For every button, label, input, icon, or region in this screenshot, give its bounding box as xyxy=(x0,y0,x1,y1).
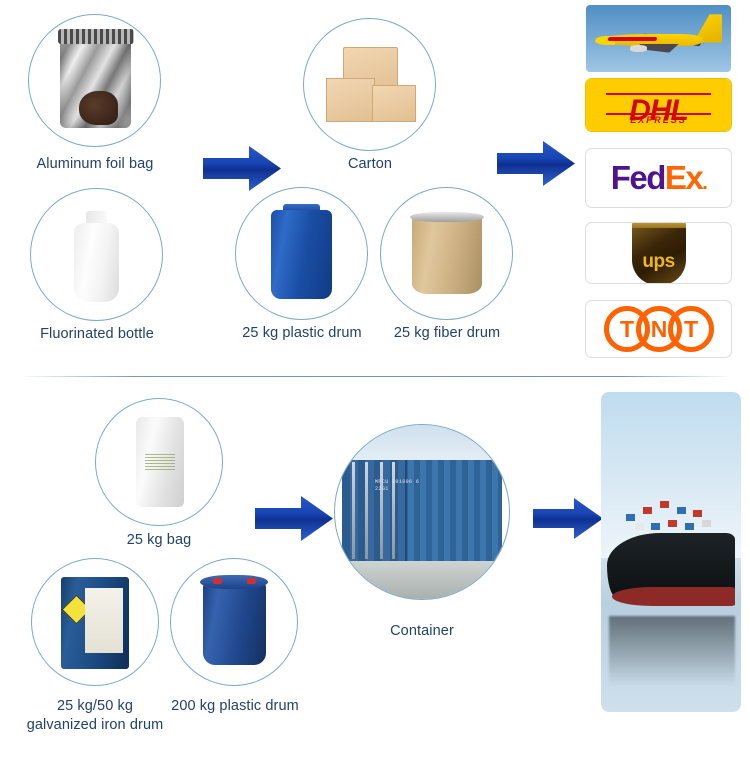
circle-carton xyxy=(303,18,436,151)
infographic-canvas: Aluminum foil bag Fluorinated bottle xyxy=(0,0,750,765)
circle-plastic-drum-200kg xyxy=(170,558,298,686)
fedex-wordmark: FedEx. xyxy=(586,159,731,197)
ups-wordmark: ups xyxy=(586,251,731,273)
galvanized-iron-drum-photo xyxy=(32,559,158,685)
section-divider xyxy=(20,376,732,377)
circle-plastic-drum-25kg xyxy=(235,187,368,320)
caption-aluminum-foil-bag: Aluminum foil bag xyxy=(9,155,181,174)
shipping-container-photo: MPCU 201006 622G1 xyxy=(335,425,509,599)
fedex-ex-part: Ex xyxy=(665,159,702,196)
caption-carton: Carton xyxy=(300,155,440,174)
arrow-inner-to-outer xyxy=(203,145,281,192)
fedex-fed-part: Fed xyxy=(611,159,665,196)
fedex-dot: . xyxy=(702,172,706,194)
circle-container: MPCU 201006 622G1 xyxy=(334,424,510,600)
arrow-container-to-ship xyxy=(533,497,603,540)
carrier-fedex-logo[interactable]: FedEx. xyxy=(585,148,732,208)
caption-bag-25kg: 25 kg bag xyxy=(93,531,225,550)
tnt-letter-3: T xyxy=(668,306,714,352)
caption-plastic-drum-200kg: 200 kg plastic drum xyxy=(157,697,313,716)
woven-sack-photo xyxy=(96,399,222,525)
blue-200kg-drum-photo xyxy=(171,559,297,685)
arrow-outer-to-carrier xyxy=(497,140,575,187)
caption-fluorinated-bottle: Fluorinated bottle xyxy=(9,325,185,344)
fiber-drum-photo xyxy=(381,188,512,319)
dhl-logo-art: DHL EXPRESS xyxy=(586,79,731,131)
caption-galvanized-iron-drum: 25 kg/50 kg galvanized iron drum xyxy=(13,697,177,735)
caption-fiber-drum-25kg: 25 kg fiber drum xyxy=(371,324,523,343)
carrier-dhl-plane xyxy=(585,4,732,73)
carrier-ups-logo[interactable]: ups xyxy=(585,222,732,284)
caption-plastic-drum-25kg: 25 kg plastic drum xyxy=(219,324,385,343)
carrier-tnt-logo[interactable]: T N T xyxy=(585,300,732,358)
circle-fiber-drum-25kg xyxy=(380,187,513,320)
container-code-text: MPCU 201006 622G1 xyxy=(375,479,419,493)
dhl-sub-wordmark: EXPRESS xyxy=(586,115,731,125)
caption-container: Container xyxy=(352,622,492,641)
white-bottle-photo xyxy=(31,189,162,320)
circle-fluorinated-bottle xyxy=(30,188,163,321)
foil-bag-photo xyxy=(29,15,160,146)
circle-galvanized-iron-drum xyxy=(31,558,159,686)
arrow-bulk-to-container xyxy=(255,495,333,542)
circle-bag-25kg xyxy=(95,398,223,526)
circle-aluminum-foil-bag xyxy=(28,14,161,147)
container-ship-card xyxy=(601,392,741,712)
carrier-dhl-logo[interactable]: DHL EXPRESS xyxy=(585,78,732,132)
carton-boxes-photo xyxy=(304,19,435,150)
blue-plastic-drum-photo xyxy=(236,188,367,319)
